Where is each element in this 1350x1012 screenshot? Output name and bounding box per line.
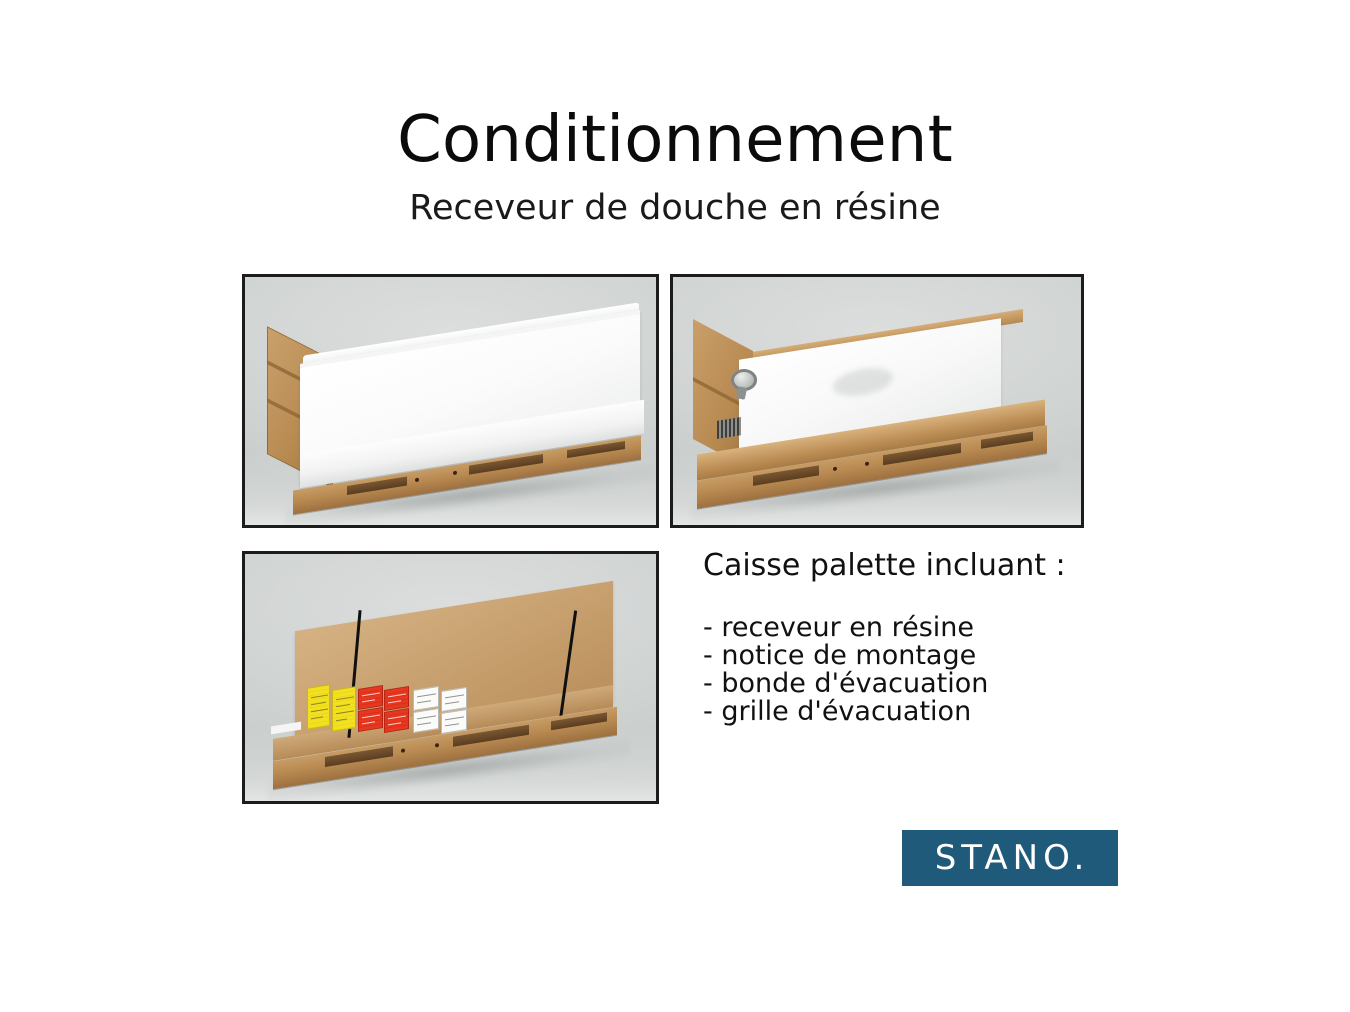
page-title: Conditionnement bbox=[0, 108, 1350, 172]
pallet-nail bbox=[833, 467, 837, 472]
caption-heading: Caisse palette incluant : bbox=[703, 551, 1123, 581]
stano-logo: STANO. bbox=[902, 830, 1118, 886]
warning-label-red bbox=[358, 685, 383, 710]
pallet-nail bbox=[865, 461, 869, 466]
info-label-white bbox=[413, 708, 439, 733]
warning-label-yellow bbox=[307, 684, 330, 730]
list-item: - receveur en résine bbox=[703, 614, 1123, 642]
info-label-white bbox=[441, 687, 467, 712]
closed-crate-scene bbox=[245, 554, 656, 801]
pallet-nail bbox=[435, 743, 439, 748]
pallet-nail bbox=[401, 748, 405, 753]
open-crate-scene bbox=[245, 277, 656, 525]
photo-open-tray bbox=[242, 274, 659, 528]
warning-label-red bbox=[384, 686, 409, 711]
caption-list: - receveur en résine - notice de montage… bbox=[703, 614, 1123, 726]
photo-wrapped-tray bbox=[670, 274, 1084, 528]
list-item: - grille d'évacuation bbox=[703, 698, 1123, 726]
stano-logo-text: STANO. bbox=[931, 841, 1090, 875]
pallet-gap bbox=[551, 712, 607, 730]
drain-grille bbox=[717, 417, 741, 439]
list-item: - notice de montage bbox=[703, 642, 1123, 670]
page-subtitle: Receveur de douche en résine bbox=[0, 191, 1350, 226]
list-item: - bonde d'évacuation bbox=[703, 670, 1123, 698]
wrapped-crate-scene bbox=[673, 277, 1081, 525]
photo-closed-crate bbox=[242, 551, 659, 804]
warning-label-red bbox=[358, 707, 383, 732]
pallet-nail bbox=[453, 471, 457, 476]
caption-block: Caisse palette incluant : - receveur en … bbox=[703, 551, 1123, 726]
warning-label-yellow bbox=[332, 686, 356, 732]
info-label-white bbox=[413, 686, 439, 711]
pallet-nail bbox=[415, 478, 419, 483]
warning-label-red bbox=[384, 708, 409, 733]
pallet-gap bbox=[981, 432, 1033, 449]
